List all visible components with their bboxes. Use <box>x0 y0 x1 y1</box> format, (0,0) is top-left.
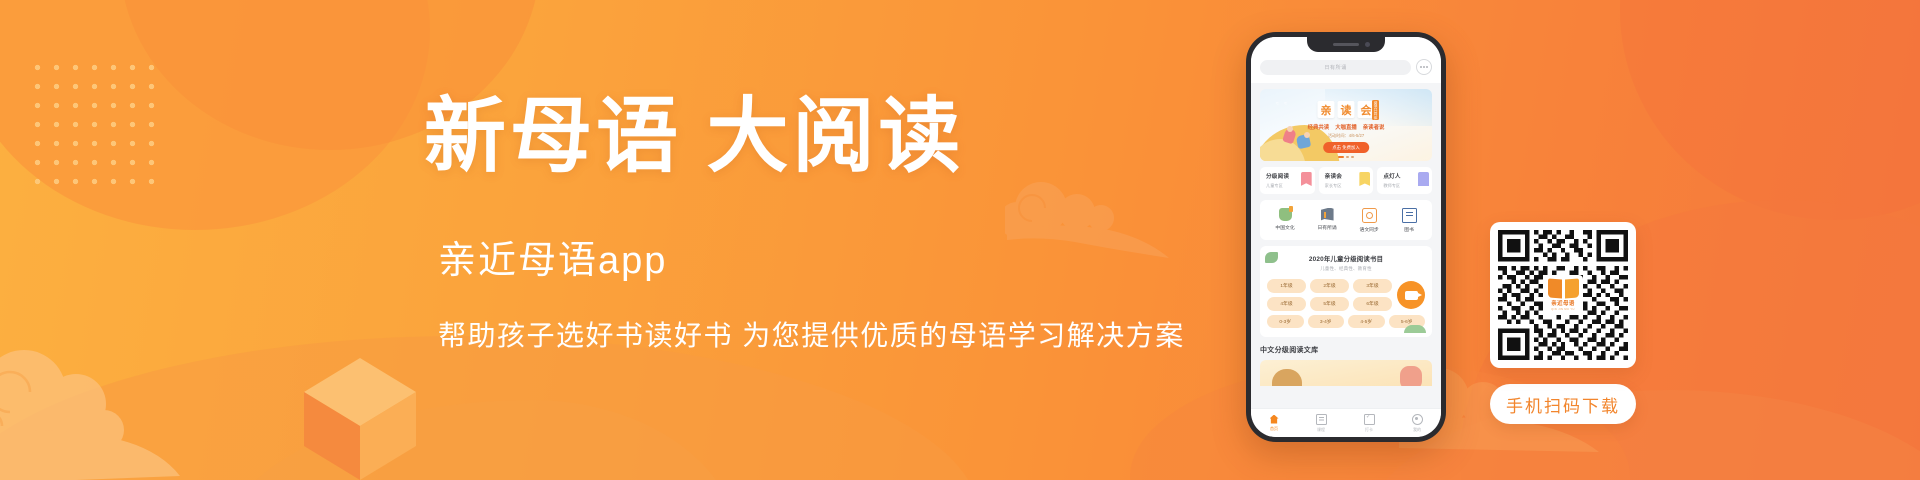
more-options-icon[interactable] <box>1416 59 1432 75</box>
hero-subtitle: 大咖直播 <box>1335 123 1357 131</box>
hero-child-a-head <box>1287 126 1293 132</box>
booklist-panel: 2020年儿童分级阅读书目 儿童性、经典性、教育性 1年级 2年级 3年级 4年… <box>1260 246 1432 337</box>
book-icon <box>1402 208 1417 223</box>
quick-icon-textbook-sync[interactable]: 语文同步 <box>1360 208 1379 234</box>
quick-icon-label: 日有所诵 <box>1317 224 1336 231</box>
quick-icon-chinese-culture[interactable]: 中国文化 <box>1275 208 1294 234</box>
tab-label: 打卡 <box>1365 427 1373 433</box>
qr-card[interactable]: 亲近母语 QIN JIN MU YU <box>1490 222 1636 368</box>
booklist-subtitle: 儿童性、经典性、教育性 <box>1267 266 1425 272</box>
page-title: 新母语 大阅读 <box>424 96 1244 178</box>
tab-label: 我的 <box>1413 427 1421 433</box>
hero-subtitles: 经典共读 大咖直播 亲读者说 <box>1308 123 1385 131</box>
grade-chip[interactable]: 6年级 <box>1353 297 1392 311</box>
hero-side-tag: 阅读共同体 <box>1372 100 1379 120</box>
hero-title-char: 读 <box>1338 101 1355 118</box>
leaf-decor-icon <box>1265 252 1278 263</box>
hero-child-b-head <box>1304 132 1310 138</box>
tab-profile[interactable]: 我的 <box>1412 414 1423 433</box>
decor-cloud-left-icon <box>0 326 182 480</box>
qr-code-icon: 亲近母语 QIN JIN MU YU <box>1498 230 1628 360</box>
leaf-decor-icon-2 <box>1404 325 1426 333</box>
user-icon <box>1412 414 1423 425</box>
promo-banner: 新母语 大阅读 亲近母语app 帮助孩子选好书读好书 为您提供优质的母语学习解决… <box>0 0 1920 480</box>
download-button[interactable]: 手机扫码下载 <box>1490 384 1636 424</box>
grade-chip[interactable]: 5年级 <box>1310 297 1349 311</box>
section-title-library: 中文分级阅读文库 <box>1260 345 1432 355</box>
vase-icon <box>1279 208 1292 221</box>
decor-hill-mid <box>220 400 740 480</box>
phone-mockup: 日有所诵 ≈ ≈ 亲 读 会 <box>1246 32 1446 442</box>
age-chip-grid: 0-3岁 3-4岁 4-5岁 5-6岁 <box>1267 315 1425 329</box>
hero-birds-icon: ≈ ≈ <box>1276 101 1289 107</box>
home-icon <box>1270 415 1279 424</box>
hero-cta-button[interactable]: 点击 免费加入 <box>1323 142 1369 153</box>
booklist-title: 2020年儿童分级阅读书目 <box>1267 254 1425 263</box>
book-stack-icon <box>1321 208 1334 221</box>
age-chip[interactable]: 3-4岁 <box>1308 315 1345 329</box>
app-body: ≈ ≈ 亲 读 会 阅读共同体 经典共读 大咖直播 亲读者说 <box>1251 89 1441 386</box>
phone-screen: 日有所诵 ≈ ≈ 亲 读 会 <box>1251 37 1441 437</box>
category-card-graded-reading[interactable]: 分级阅读 儿童专区 <box>1260 167 1315 194</box>
decor-circle-top-left <box>0 0 430 230</box>
grade-chip[interactable]: 3年级 <box>1353 279 1392 293</box>
hero-title-char: 亲 <box>1318 101 1335 118</box>
quick-icon-label: 图书 <box>1404 226 1414 233</box>
quick-icon-row: 中国文化 日有所诵 语文同步 图书 <box>1260 200 1432 241</box>
age-chip[interactable]: 4-5岁 <box>1348 315 1385 329</box>
qr-block: 亲近母语 QIN JIN MU YU 手机扫码下载 <box>1490 222 1636 424</box>
check-icon <box>1364 414 1375 425</box>
grade-chip-grid: 1年级 2年级 3年级 4年级 5年级 6年级 <box>1267 279 1392 311</box>
decor-hill-left <box>0 336 980 480</box>
category-cards: 分级阅读 儿童专区 亲读会 家长专区 点灯人 教师专区 <box>1260 167 1432 194</box>
open-book-logo-icon <box>1548 279 1578 298</box>
shape-purple-icon <box>1418 172 1429 186</box>
tab-home[interactable]: 首页 <box>1270 415 1279 432</box>
video-play-icon[interactable] <box>1397 281 1425 309</box>
decor-dot-grid <box>28 58 162 186</box>
hero-title: 亲 读 会 <box>1318 101 1375 118</box>
category-card-parent-club[interactable]: 亲读会 家长专区 <box>1319 167 1374 194</box>
tab-courses[interactable]: 课程 <box>1316 414 1327 433</box>
quick-icon-label: 语文同步 <box>1360 226 1379 233</box>
category-card-teacher[interactable]: 点灯人 教师专区 <box>1377 167 1432 194</box>
logo-subtitle: QIN JIN MU YU <box>1551 308 1574 311</box>
copy-block: 新母语 大阅读 亲近母语app 帮助孩子选好书读好书 为您提供优质的母语学习解决… <box>424 96 1244 353</box>
doc-icon <box>1316 414 1327 425</box>
tagline: 帮助孩子选好书读好书 为您提供优质的母语学习解决方案 <box>438 318 1244 353</box>
grade-chip[interactable]: 1年级 <box>1267 279 1306 293</box>
tab-label: 首页 <box>1270 426 1278 432</box>
decor-circle-right-top <box>1620 0 1920 220</box>
decor-cube-icon <box>300 352 420 480</box>
quick-icon-daily-recite[interactable]: 日有所诵 <box>1317 208 1336 234</box>
phone-speaker <box>1333 43 1359 46</box>
app-name: 亲近母语app <box>438 242 1244 280</box>
app-hero-banner[interactable]: ≈ ≈ 亲 读 会 阅读共同体 经典共读 大咖直播 亲读者说 <box>1260 89 1432 161</box>
age-chip[interactable]: 0-3岁 <box>1267 315 1304 329</box>
hero-subtitle: 经典共读 <box>1308 123 1330 131</box>
bottom-tab-bar: 首页 课程 打卡 我的 <box>1251 408 1441 437</box>
search-input[interactable]: 日有所诵 <box>1260 60 1411 75</box>
tab-label: 课程 <box>1317 427 1325 433</box>
logo-title: 亲近母语 <box>1551 299 1575 307</box>
grade-chip[interactable]: 4年级 <box>1267 297 1306 311</box>
hero-date: 活动时间：4/6-5/27 <box>1328 133 1364 139</box>
phone-camera-icon <box>1365 42 1370 47</box>
library-preview[interactable] <box>1260 360 1432 386</box>
square-circle-icon <box>1362 208 1377 223</box>
hero-subtitle: 亲读者说 <box>1363 123 1385 131</box>
hero-pager[interactable] <box>1338 156 1354 158</box>
qr-center-logo: 亲近母语 QIN JIN MU YU <box>1543 275 1583 315</box>
phone-notch <box>1307 37 1385 52</box>
tab-checkin[interactable]: 打卡 <box>1364 414 1375 433</box>
quick-icon-books[interactable]: 图书 <box>1402 208 1417 234</box>
quick-icon-label: 中国文化 <box>1275 224 1294 231</box>
grade-chip[interactable]: 2年级 <box>1310 279 1349 293</box>
